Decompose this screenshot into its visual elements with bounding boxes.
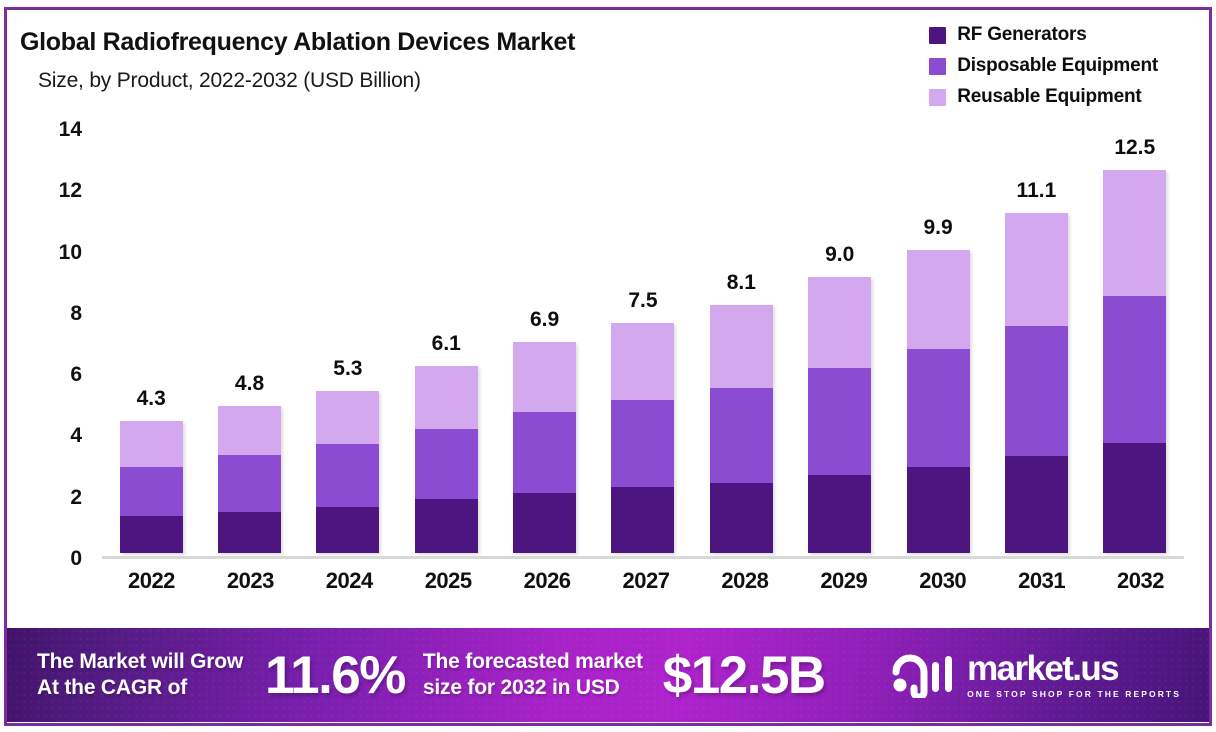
chart-title: Global Radiofrequency Ablation Devices M… xyxy=(20,28,820,57)
y-axis-tick: 12 xyxy=(59,179,82,203)
bar-segment xyxy=(907,250,970,350)
bar-segment xyxy=(808,475,871,553)
legend-label: RF Generators xyxy=(957,24,1086,46)
bar-segment xyxy=(1005,326,1068,456)
y-axis-tick: 6 xyxy=(70,363,82,387)
x-axis-tick: 2023 xyxy=(201,568,300,594)
bar-segment xyxy=(710,388,773,483)
bar-segment xyxy=(120,467,183,516)
forecast-caption-line1: The forecasted market xyxy=(423,649,643,675)
bar-stack[interactable] xyxy=(907,250,970,553)
bar-column[interactable]: 8.1 xyxy=(692,130,790,559)
plot-area: 02468101214 4.34.85.36.16.97.58.19.09.91… xyxy=(20,130,1190,565)
x-axis-tick: 2027 xyxy=(597,568,696,594)
cagr-caption: The Market will Grow At the CAGR of xyxy=(37,649,243,700)
x-axis-tick: 2024 xyxy=(300,568,399,594)
y-axis-tick: 0 xyxy=(70,547,82,571)
bar-segment xyxy=(611,487,674,553)
bar-value-label: 12.5 xyxy=(1114,136,1155,160)
bar-segment xyxy=(218,406,281,455)
cagr-caption-line2: At the CAGR of xyxy=(37,675,243,701)
legend-item[interactable]: RF Generators xyxy=(929,24,1086,46)
bar-segment xyxy=(611,323,674,400)
bar-segment xyxy=(316,444,379,507)
bar-segment xyxy=(1103,170,1166,296)
market-us-logo-mark xyxy=(892,652,956,698)
legend-item[interactable]: Disposable Equipment xyxy=(929,55,1158,77)
legend-label: Disposable Equipment xyxy=(957,55,1158,77)
bar-stack[interactable] xyxy=(1103,170,1166,553)
bar-segment xyxy=(1005,213,1068,326)
bar-segment xyxy=(316,391,379,445)
bar-stack[interactable] xyxy=(120,421,183,553)
bar-segment xyxy=(316,507,379,553)
x-axis: 2022202320242025202620272028202920302031… xyxy=(102,568,1190,594)
cagr-caption-line1: The Market will Grow xyxy=(37,649,243,675)
y-axis-tick: 14 xyxy=(59,118,82,142)
bar-segment xyxy=(1005,456,1068,553)
summary-banner: The Market will Grow At the CAGR of 11.6… xyxy=(7,628,1209,722)
bar-segment xyxy=(907,467,970,553)
bar-column[interactable]: 7.5 xyxy=(594,130,692,559)
bar-value-label: 4.3 xyxy=(137,387,166,411)
bar-segment xyxy=(513,493,576,553)
bar-segment xyxy=(513,342,576,412)
bar-column[interactable]: 6.1 xyxy=(397,130,495,559)
bar-segment xyxy=(1103,443,1166,553)
legend-item[interactable]: Reusable Equipment xyxy=(929,86,1141,108)
bar-stack[interactable] xyxy=(218,406,281,553)
axis-baseline xyxy=(102,556,1184,559)
bar-segment xyxy=(218,455,281,512)
bar-segment xyxy=(120,421,183,467)
bar-stack[interactable] xyxy=(415,366,478,553)
bars-row: 4.34.85.36.16.97.58.19.09.911.112.5 xyxy=(102,130,1184,559)
x-axis-tick: 2031 xyxy=(992,568,1091,594)
chart-legend: RF GeneratorsDisposable EquipmentReusabl… xyxy=(929,24,1158,108)
y-axis-tick: 2 xyxy=(70,486,82,510)
bar-stack[interactable] xyxy=(611,323,674,553)
bar-segment xyxy=(1103,296,1166,443)
cagr-value: 11.6% xyxy=(265,645,405,706)
bar-column[interactable]: 4.8 xyxy=(200,130,298,559)
forecast-caption-line2: size for 2032 in USD xyxy=(423,675,643,701)
market-us-wordmark: market.us xyxy=(967,651,1118,686)
x-axis-tick: 2030 xyxy=(893,568,992,594)
bar-value-label: 5.3 xyxy=(333,357,362,381)
forecast-value: $12.5B xyxy=(663,645,825,706)
y-axis-tick: 8 xyxy=(70,302,82,326)
legend-swatch-icon xyxy=(929,58,946,75)
x-axis-tick: 2025 xyxy=(399,568,498,594)
bar-column[interactable]: 4.3 xyxy=(102,130,200,559)
bar-segment xyxy=(907,349,970,467)
market-us-tagline: ONE STOP SHOP FOR THE REPORTS xyxy=(967,689,1181,699)
bar-column[interactable]: 5.3 xyxy=(299,130,397,559)
y-axis: 02468101214 xyxy=(20,130,92,565)
bar-segment xyxy=(808,277,871,367)
bar-segment xyxy=(415,429,478,499)
bar-value-label: 11.1 xyxy=(1017,179,1057,203)
bar-segment xyxy=(513,412,576,493)
bar-value-label: 7.5 xyxy=(628,289,657,313)
bar-stack[interactable] xyxy=(808,277,871,553)
forecast-caption: The forecasted market size for 2032 in U… xyxy=(423,649,643,700)
legend-label: Reusable Equipment xyxy=(957,86,1141,108)
x-axis-tick: 2022 xyxy=(102,568,201,594)
bar-column[interactable]: 9.9 xyxy=(889,130,987,559)
market-us-logo[interactable]: market.us ONE STOP SHOP FOR THE REPORTS xyxy=(892,651,1181,699)
bar-column[interactable]: 12.5 xyxy=(1086,130,1184,559)
chart-infographic: Global Radiofrequency Ablation Devices M… xyxy=(0,0,1216,732)
bar-segment xyxy=(710,305,773,388)
bar-segment xyxy=(415,366,478,429)
bar-segment xyxy=(415,499,478,553)
bar-value-label: 8.1 xyxy=(727,271,756,295)
x-axis-tick: 2028 xyxy=(695,568,794,594)
bar-value-label: 4.8 xyxy=(235,372,264,396)
bar-value-label: 6.9 xyxy=(530,308,559,332)
legend-swatch-icon xyxy=(929,27,946,44)
bar-segment xyxy=(808,368,871,475)
y-axis-tick: 4 xyxy=(70,424,82,448)
bar-value-label: 9.9 xyxy=(923,216,952,240)
x-axis-tick: 2026 xyxy=(498,568,597,594)
bar-segment xyxy=(120,516,183,553)
chart-subtitle: Size, by Product, 2022-2032 (USD Billion… xyxy=(38,69,820,93)
chart-header: Global Radiofrequency Ablation Devices M… xyxy=(20,28,820,93)
bar-value-label: 6.1 xyxy=(432,332,461,356)
x-axis-tick: 2032 xyxy=(1091,568,1190,594)
bar-column[interactable]: 6.9 xyxy=(495,130,593,559)
bar-segment xyxy=(218,512,281,553)
bar-stack[interactable] xyxy=(513,342,576,553)
legend-swatch-icon xyxy=(929,89,946,106)
bar-stack[interactable] xyxy=(710,305,773,553)
x-axis-tick: 2029 xyxy=(794,568,893,594)
y-axis-tick: 10 xyxy=(59,241,82,265)
bar-stack[interactable] xyxy=(1005,213,1068,553)
bar-segment xyxy=(611,400,674,487)
bar-column[interactable]: 11.1 xyxy=(987,130,1085,559)
bar-value-label: 9.0 xyxy=(825,243,854,267)
bar-column[interactable]: 9.0 xyxy=(791,130,889,559)
bar-segment xyxy=(710,483,773,553)
bar-stack[interactable] xyxy=(316,391,379,553)
bars-area: 4.34.85.36.16.97.58.19.09.911.112.5 xyxy=(102,130,1184,565)
